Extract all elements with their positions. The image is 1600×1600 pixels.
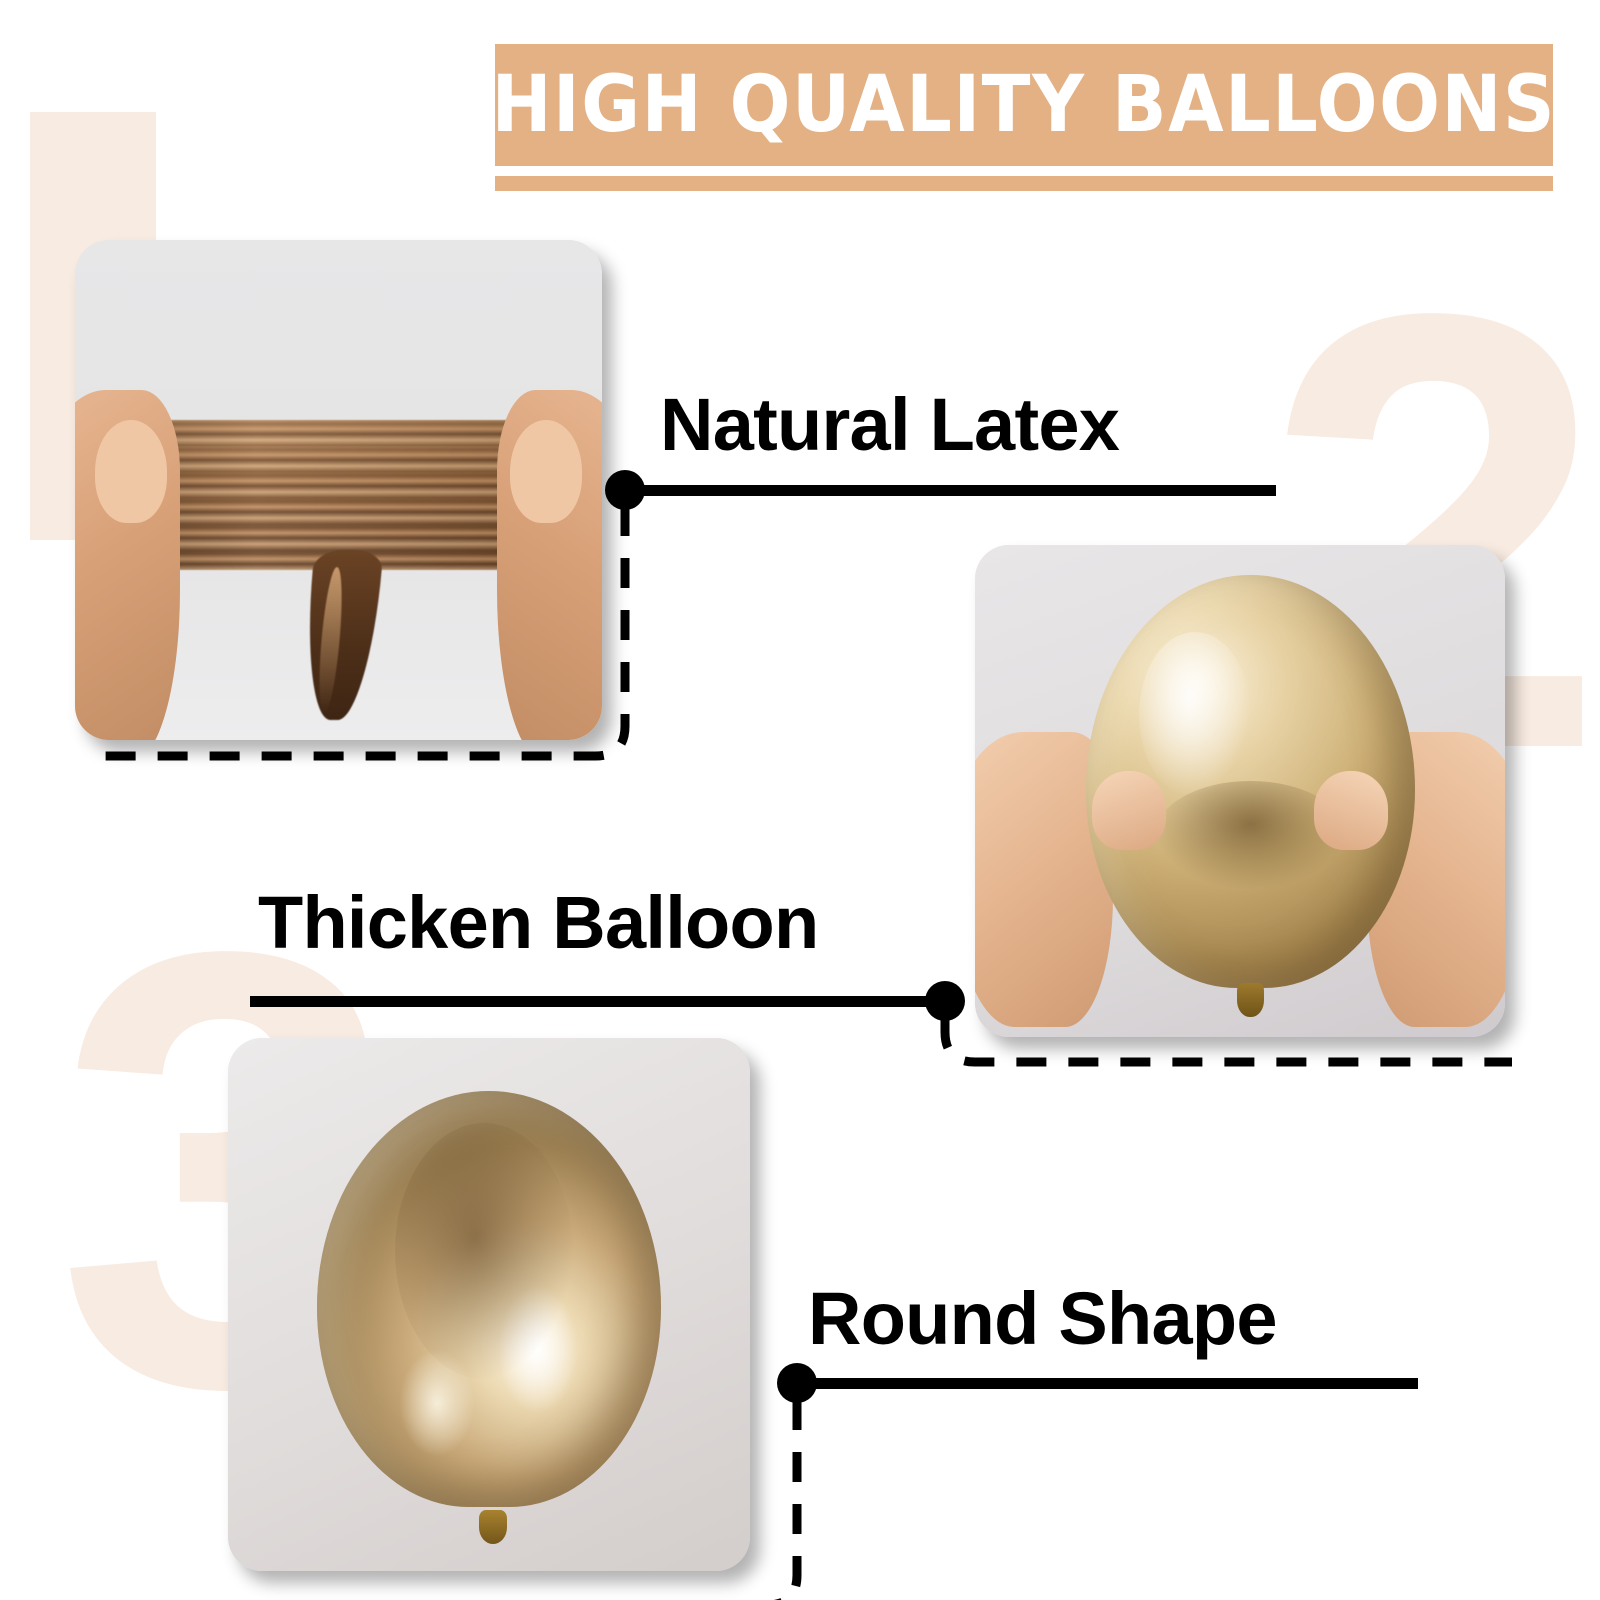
- feature-photo-thicken-balloon: [975, 545, 1505, 1037]
- right-hand: [497, 390, 602, 740]
- feature-dot-natural-latex: [605, 470, 645, 510]
- feature-rule-round-shape: [800, 1378, 1418, 1389]
- feature-label-natural-latex: Natural Latex: [660, 388, 1119, 462]
- feature-label-thicken-balloon: Thicken Balloon: [258, 886, 818, 960]
- header-banner: HIGH QUALITY BALLOONS: [495, 44, 1553, 166]
- feature-photo-natural-latex: [75, 240, 602, 740]
- feature-photo-round-shape: [228, 1038, 750, 1571]
- right-thumb: [1314, 771, 1388, 850]
- header-accent-rule: [495, 176, 1553, 191]
- page-title: HIGH QUALITY BALLOONS: [492, 60, 1557, 150]
- feature-dot-round-shape: [777, 1363, 817, 1403]
- feature-rule-natural-latex: [640, 485, 1276, 496]
- balloon-nozzle: [1237, 983, 1264, 1017]
- feature-dot-thicken-balloon: [925, 981, 965, 1021]
- balloon-shadow: [395, 1123, 572, 1379]
- left-hand: [75, 390, 180, 740]
- feature-label-round-shape: Round Shape: [808, 1282, 1277, 1356]
- feature-rule-thicken-balloon: [250, 996, 950, 1007]
- balloon-nozzle: [479, 1510, 508, 1545]
- left-thumb: [1092, 771, 1166, 850]
